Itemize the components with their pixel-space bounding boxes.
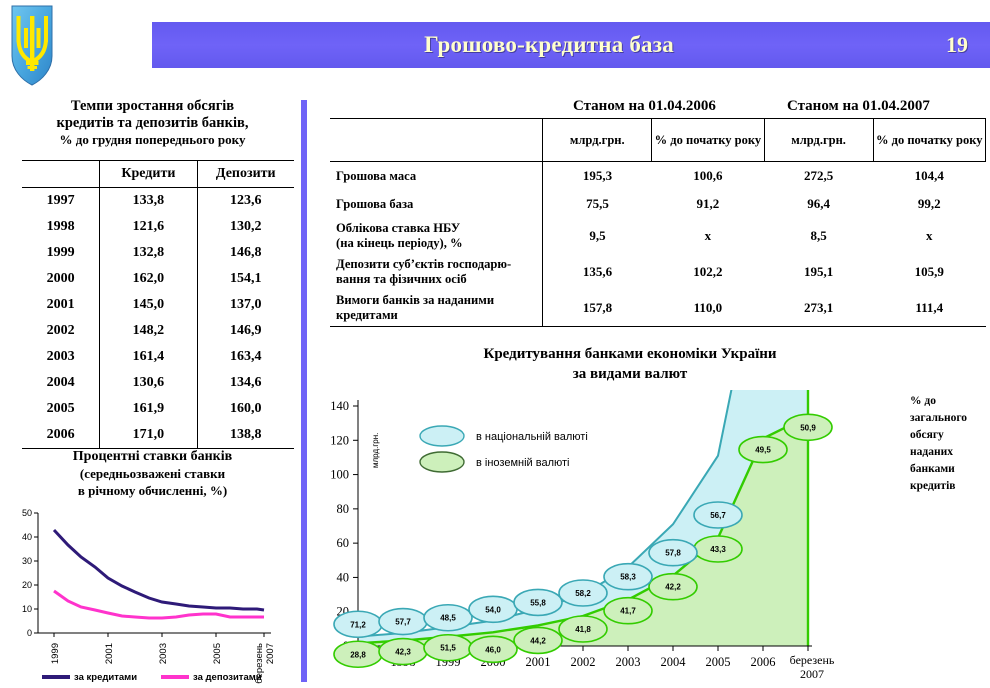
date-header-2006: Станом на 01.04.2006 xyxy=(573,98,716,115)
left-table-heading: Темпи зростання обсягів кредитів та депо… xyxy=(10,98,295,148)
bubble-value: 58,3 xyxy=(620,573,636,582)
slide-number: 19 xyxy=(946,32,990,58)
row-label: Грошова база xyxy=(330,190,543,218)
cell-pct-2007: 99,2 xyxy=(873,190,985,218)
cell-deposits: 130,2 xyxy=(197,214,294,240)
legend-label-national: в національній валюті xyxy=(476,431,588,443)
table-row: Грошова маса195,3100,6272,5104,4 xyxy=(330,162,986,191)
cell-bln-2007: 8,5 xyxy=(764,218,873,254)
row-label: Облікова ставка НБУ(на кінець періоду), … xyxy=(330,218,543,254)
cell-credits: 130,6 xyxy=(100,370,197,396)
rates-legend-credits-label: за кредитами xyxy=(74,672,137,683)
cell-credits: 162,0 xyxy=(100,266,197,292)
svg-text:2003: 2003 xyxy=(158,643,169,664)
bubble-value: 41,8 xyxy=(575,625,591,634)
bubble-value: 41,7 xyxy=(620,607,636,616)
table-header-row: Кредити Депозити xyxy=(22,161,294,188)
left-heading-line3: % до грудня попереднього року xyxy=(10,132,295,148)
bubble-value: 57,8 xyxy=(665,549,681,558)
cell-bln-2007: 195,1 xyxy=(764,254,873,290)
row-label: Депозити суб’єктів господарю-вання та фі… xyxy=(330,254,543,290)
legend-label-foreign: в іноземній валюті xyxy=(476,457,569,469)
vertical-divider xyxy=(301,100,307,682)
svg-text:1999: 1999 xyxy=(50,643,61,664)
cell-year: 2001 xyxy=(22,292,100,318)
cell-pct-2006: 110,0 xyxy=(652,290,764,327)
svg-text:2001: 2001 xyxy=(104,643,115,664)
x-tick-label: 2005 xyxy=(706,655,731,669)
cell-deposits: 146,9 xyxy=(197,318,294,344)
cell-bln-2007: 273,1 xyxy=(764,290,873,327)
cell-year: 2006 xyxy=(22,422,100,449)
cell-year: 2000 xyxy=(22,266,100,292)
table-row: 1999132,8146,8 xyxy=(22,240,294,266)
rates-legend: за кредитами за депозитами xyxy=(42,672,262,683)
hdr-blank xyxy=(330,119,543,162)
x-tick-label: 2007 xyxy=(800,667,824,681)
main-table-date-headers: Станом на 01.04.2006 Станом на 01.04.200… xyxy=(330,98,985,118)
cell-deposits: 134,6 xyxy=(197,370,294,396)
ukraine-coat-of-arms-emblem xyxy=(8,4,56,88)
cell-credits: 148,2 xyxy=(100,318,197,344)
x-tick-label: 2004 xyxy=(661,655,687,669)
cell-year: 2004 xyxy=(22,370,100,396)
table-row: 2004130,6134,6 xyxy=(22,370,294,396)
chart-note-line: загального xyxy=(910,412,967,424)
y-tick-label: 140 xyxy=(330,399,349,413)
y-tick-label: 60 xyxy=(337,536,350,550)
cell-bln-2007: 272,5 xyxy=(764,162,873,191)
bubble-value: 46,0 xyxy=(485,645,501,654)
bubble-value: 57,7 xyxy=(395,618,411,627)
table-header-row: млрд.грн.% до початку рокумлрд.грн.% до … xyxy=(330,119,986,162)
cell-credits: 133,8 xyxy=(100,188,197,215)
svg-text:10: 10 xyxy=(22,604,32,614)
rates-heading-line3: в річному обчисленні, %) xyxy=(10,482,295,499)
rates-heading-line1: Процентні ставки банків xyxy=(10,448,295,465)
y-tick-label: 100 xyxy=(330,468,349,482)
cell-bln-2006: 9,5 xyxy=(543,218,652,254)
hdr-bln-2007: млрд.грн. xyxy=(764,119,873,162)
svg-text:2007: 2007 xyxy=(265,643,276,664)
cell-year: 1998 xyxy=(22,214,100,240)
cell-pct-2006: 100,6 xyxy=(652,162,764,191)
x-tick-label: березень xyxy=(790,653,835,667)
table-row: 2006171,0138,8 xyxy=(22,422,294,449)
svg-text:50: 50 xyxy=(22,508,32,518)
table-row: Вимоги банків за наданимикредитами157,81… xyxy=(330,290,986,327)
cell-credits: 161,9 xyxy=(100,396,197,422)
svg-text:40: 40 xyxy=(22,532,32,542)
rates-deposits-line xyxy=(54,591,264,618)
chart-note-line: кредитів xyxy=(910,480,955,492)
cell-credits: 145,0 xyxy=(100,292,197,318)
y-tick-label: 40 xyxy=(337,570,350,584)
page-title: Грошово-кредитна база xyxy=(152,32,946,58)
bubble-value: 44,2 xyxy=(530,636,546,645)
main-chart-title-line2: за видами валют xyxy=(330,364,930,384)
bubble-value: 55,8 xyxy=(530,598,546,607)
bubble-value: 58,2 xyxy=(575,589,591,598)
cell-pct-2006: 102,2 xyxy=(652,254,764,290)
cell-bln-2006: 75,5 xyxy=(543,190,652,218)
y-axis-label: млрд.грн. xyxy=(371,433,380,468)
table-row: 2003161,4163,4 xyxy=(22,344,294,370)
cell-pct-2007: 105,9 xyxy=(873,254,985,290)
cell-year: 1999 xyxy=(22,240,100,266)
bubble-value: 48,5 xyxy=(440,614,456,623)
cell-credits: 132,8 xyxy=(100,240,197,266)
bubble-value: 56,7 xyxy=(710,511,726,520)
slide-title-bar: Грошово-кредитна база 19 xyxy=(152,22,990,68)
svg-text:0: 0 xyxy=(27,628,32,638)
x-tick-label: 2003 xyxy=(616,655,641,669)
col-credits: Кредити xyxy=(100,161,197,188)
y-tick-label: 120 xyxy=(330,433,349,447)
cell-deposits: 146,8 xyxy=(197,240,294,266)
date-header-2007: Станом на 01.04.2007 xyxy=(787,98,930,115)
table-row: 2005161,9160,0 xyxy=(22,396,294,422)
cell-bln-2007: 96,4 xyxy=(764,190,873,218)
chart-note-line: обсягу xyxy=(910,429,944,441)
rates-heading-line2: (середньозважені ставки xyxy=(10,465,295,482)
hdr-bln-2006: млрд.грн. xyxy=(543,119,652,162)
bubble-value: 51,5 xyxy=(440,644,456,653)
rates-y-tick-labels: 0 10 20 30 40 50 xyxy=(22,508,32,638)
legend-swatch-foreign xyxy=(420,452,464,472)
rates-chart-heading: Процентні ставки банків (середньозважені… xyxy=(10,448,295,499)
bubble-value: 28,8 xyxy=(350,650,366,659)
chart-note-line: % до xyxy=(910,395,936,407)
left-heading-line2: кредитів та депозитів банків, xyxy=(10,115,295,132)
cell-deposits: 160,0 xyxy=(197,396,294,422)
cell-deposits: 154,1 xyxy=(197,266,294,292)
table-row: Депозити суб’єктів господарю-вання та фі… xyxy=(330,254,986,290)
rates-legend-deposits-label: за депозитами xyxy=(193,672,262,683)
rates-credits-line xyxy=(54,530,264,610)
cell-deposits: 137,0 xyxy=(197,292,294,318)
interest-rates-line-chart: 0 10 20 30 40 50 1999 2001 2003 2005 бер… xyxy=(6,505,296,685)
main-chart-title: Кредитування банками економіки України з… xyxy=(330,344,930,384)
cell-year: 2002 xyxy=(22,318,100,344)
cell-pct-2007: 111,4 xyxy=(873,290,985,327)
left-heading-line1: Темпи зростання обсягів xyxy=(10,98,295,115)
svg-text:30: 30 xyxy=(22,556,32,566)
table-row: 2000162,0154,1 xyxy=(22,266,294,292)
x-tick-label: 2001 xyxy=(526,655,551,669)
x-tick-label: 2002 xyxy=(571,655,596,669)
cell-deposits: 163,4 xyxy=(197,344,294,370)
cell-pct-2007: х xyxy=(873,218,985,254)
table-row: 1997133,8123,6 xyxy=(22,188,294,215)
cell-pct-2006: х xyxy=(652,218,764,254)
chart-note-line: наданих xyxy=(910,446,953,458)
table-row: 1998121,6130,2 xyxy=(22,214,294,240)
main-chart-title-line1: Кредитування банками економіки України xyxy=(330,344,930,364)
bubble-value: 50,9 xyxy=(800,423,816,432)
bubble-value: 71,2 xyxy=(350,620,366,629)
lending-by-currency-area-chart: 020406080100120140млрд.грн.1997199819992… xyxy=(312,390,990,686)
cell-credits: 171,0 xyxy=(100,422,197,449)
svg-text:20: 20 xyxy=(22,580,32,590)
chart-note-line: банками xyxy=(910,463,955,475)
bubble-value: 49,5 xyxy=(755,446,771,455)
table-row: 2002148,2146,9 xyxy=(22,318,294,344)
cell-deposits: 138,8 xyxy=(197,422,294,449)
bubble-value: 43,3 xyxy=(710,545,726,554)
cell-deposits: 123,6 xyxy=(197,188,294,215)
hdr-pct-2006: % до початку року xyxy=(652,119,764,162)
table-row: Облікова ставка НБУ(на кінець періоду), … xyxy=(330,218,986,254)
row-label: Грошова маса xyxy=(330,162,543,191)
bubble-value: 42,3 xyxy=(395,648,411,657)
cell-bln-2006: 195,3 xyxy=(543,162,652,191)
bubble-value: 54,0 xyxy=(485,605,501,614)
row-label: Вимоги банків за наданимикредитами xyxy=(330,290,543,327)
cell-bln-2006: 157,8 xyxy=(543,290,652,327)
table-row: 2001145,0137,0 xyxy=(22,292,294,318)
col-year xyxy=(22,161,100,188)
cell-bln-2006: 135,6 xyxy=(543,254,652,290)
cell-year: 1997 xyxy=(22,188,100,215)
growth-rates-table: Кредити Депозити 1997133,8123,61998121,6… xyxy=(22,160,294,449)
cell-pct-2006: 91,2 xyxy=(652,190,764,218)
col-deposits: Депозити xyxy=(197,161,294,188)
hdr-pct-2007: % до початку року xyxy=(873,119,985,162)
x-tick-label: 2006 xyxy=(751,655,776,669)
cell-credits: 121,6 xyxy=(100,214,197,240)
monetary-indicators-table: млрд.грн.% до початку рокумлрд.грн.% до … xyxy=(330,118,986,327)
cell-pct-2007: 104,4 xyxy=(873,162,985,191)
cell-year: 2003 xyxy=(22,344,100,370)
svg-text:2005: 2005 xyxy=(212,643,223,664)
cell-credits: 161,4 xyxy=(100,344,197,370)
table-row: Грошова база75,591,296,499,2 xyxy=(330,190,986,218)
y-tick-label: 80 xyxy=(337,502,350,516)
cell-year: 2005 xyxy=(22,396,100,422)
bubble-value: 42,2 xyxy=(665,583,681,592)
legend-swatch-national xyxy=(420,426,464,446)
